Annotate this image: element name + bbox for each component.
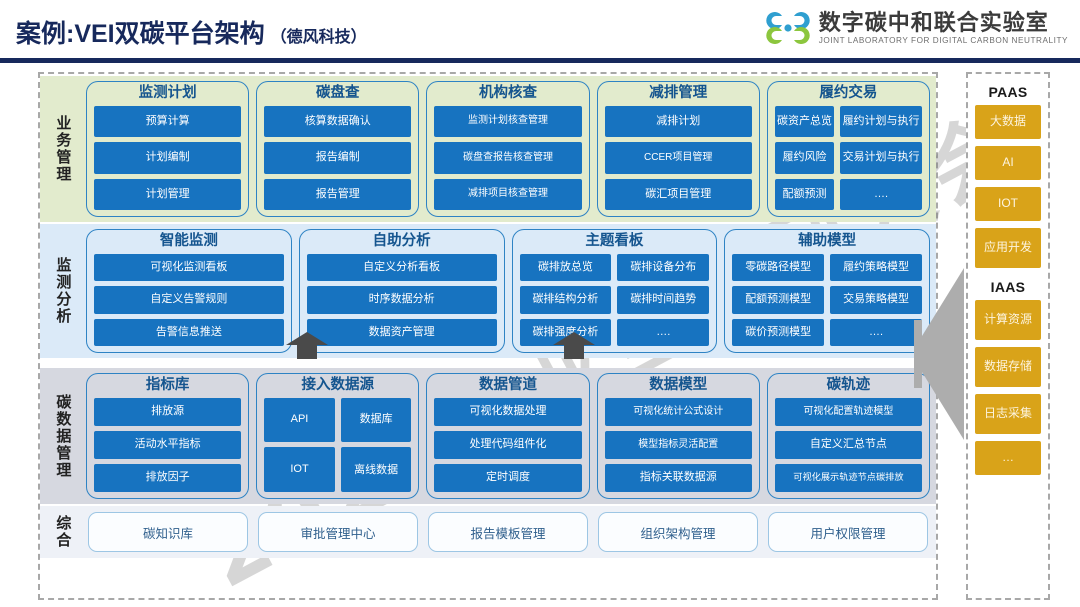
header-divider: [0, 58, 1080, 63]
group-item-chip[interactable]: 监测计划核查管理: [434, 106, 581, 137]
title-main: 案例:VEI双碳平台架构: [16, 14, 265, 50]
layer-row: 碳数据管理指标库排放源活动水平指标排放因子接入数据源API数据库IOT离线数据数…: [40, 368, 936, 504]
group-card[interactable]: 主题看板碳排放总览碳排设备分布碳排结构分析碳排时间趋势碳排强度分析….: [512, 229, 718, 353]
row-label: 综合: [40, 506, 84, 558]
group-card[interactable]: 接入数据源API数据库IOT离线数据: [256, 373, 419, 499]
group-item-chip[interactable]: 碳排时间趋势: [617, 286, 709, 313]
group-card[interactable]: 智能监测可视化监测看板自定义告警规则告警信息推送: [86, 229, 292, 353]
group-item-chip[interactable]: 核算数据确认: [264, 106, 411, 137]
iaas-items: 计算资源数据存储日志采集…: [975, 300, 1041, 475]
group-title: 指标库: [94, 376, 241, 398]
group-title: 履约交易: [775, 84, 922, 106]
four-leaf-logo-icon: [765, 8, 811, 48]
general-button[interactable]: 碳知识库: [88, 512, 248, 552]
sidebar-chip[interactable]: 日志采集: [975, 394, 1041, 434]
group-item-chip[interactable]: 自定义告警规则: [94, 286, 284, 313]
group-item-chip[interactable]: 计划管理: [94, 179, 241, 210]
group-item-chip[interactable]: 定时调度: [434, 464, 581, 492]
group-item-chip[interactable]: 履约风险: [775, 142, 834, 173]
group-item-list: 可视化配置轨迹模型自定义汇总节点可视化展示轨迹节点碳排放: [775, 398, 922, 492]
group-card[interactable]: 监测计划预算计算计划编制计划管理: [86, 81, 249, 217]
group-title: 接入数据源: [264, 376, 411, 398]
group-item-chip[interactable]: 碳价预测模型: [732, 319, 824, 346]
group-item-chip[interactable]: 减排项目核查管理: [434, 179, 581, 210]
group-item-chip[interactable]: 可视化展示轨迹节点碳排放: [775, 464, 922, 492]
group-item-chip[interactable]: 可视化统计公式设计: [605, 398, 752, 426]
big-left-arrow: [912, 208, 964, 500]
group-item-chip[interactable]: 可视化配置轨迹模型: [775, 398, 922, 426]
group-item-chip[interactable]: IOT: [264, 447, 335, 492]
group-card[interactable]: 辅助模型零碳路径模型履约策略模型配额预测模型交易策略模型碳价预测模型….: [724, 229, 930, 353]
row-label: 业务管理: [40, 76, 84, 222]
general-buttons: 碳知识库审批管理中心报告模板管理组织架构管理用户权限管理: [84, 506, 936, 558]
group-item-chip[interactable]: 可视化监测看板: [94, 254, 284, 281]
group-title: 减排管理: [605, 84, 752, 106]
group-item-list: 自定义分析看板时序数据分析数据资产管理: [307, 254, 497, 346]
paas-heading: PAAS: [975, 80, 1041, 105]
row-groups: 监测计划预算计算计划编制计划管理碳盘查核算数据确认报告编制报告管理机构核查监测计…: [84, 76, 936, 222]
row-label: 碳数据管理: [40, 368, 84, 504]
general-button[interactable]: 报告模板管理: [428, 512, 588, 552]
group-card[interactable]: 履约交易碳资产总览履约计划与执行履约风险交易计划与执行配额预测….: [767, 81, 930, 217]
group-item-chip[interactable]: 排放源: [94, 398, 241, 426]
group-card[interactable]: 数据模型可视化统计公式设计模型指标灵活配置指标关联数据源: [597, 373, 760, 499]
group-title: 机构核查: [434, 84, 581, 106]
group-item-chip[interactable]: 减排计划: [605, 106, 752, 137]
group-item-chip[interactable]: 零碳路径模型: [732, 254, 824, 281]
general-button[interactable]: 组织架构管理: [598, 512, 758, 552]
title-sub: （德风科技）: [271, 23, 367, 47]
group-item-chip[interactable]: 数据库: [341, 398, 412, 443]
page-title: 案例:VEI双碳平台架构 （德风科技）: [16, 14, 367, 50]
group-card[interactable]: 减排管理减排计划CCER项目管理碳汇项目管理: [597, 81, 760, 217]
group-item-chip[interactable]: CCER项目管理: [605, 142, 752, 173]
group-title: 数据管道: [434, 376, 581, 398]
group-card[interactable]: 碳轨迹可视化配置轨迹模型自定义汇总节点可视化展示轨迹节点碳排放: [767, 373, 930, 499]
logo-title-en: JOINT LABORATORY FOR DIGITAL CARBON NEUT…: [819, 36, 1068, 45]
paas-items: 大数据AIIOT应用开发: [975, 105, 1041, 268]
sidebar-chip[interactable]: 数据存储: [975, 347, 1041, 387]
group-item-chip[interactable]: 交易计划与执行: [840, 142, 922, 173]
up-arrow-right: [552, 330, 596, 360]
group-item-list: 可视化数据处理处理代码组件化定时调度: [434, 398, 581, 492]
group-item-chip[interactable]: ….: [840, 179, 922, 210]
up-arrow-left: [285, 330, 329, 360]
layer-row: 监测分析智能监测可视化监测看板自定义告警规则告警信息推送自助分析自定义分析看板时…: [40, 224, 936, 358]
sidebar-chip[interactable]: 计算资源: [975, 300, 1041, 340]
group-item-chip[interactable]: ….: [830, 319, 922, 346]
group-item-list: 减排计划CCER项目管理碳汇项目管理: [605, 106, 752, 210]
sidebar-chip[interactable]: AI: [975, 146, 1041, 180]
group-item-chip[interactable]: 报告编制: [264, 142, 411, 173]
group-title: 碳轨迹: [775, 376, 922, 398]
layer-row: 业务管理监测计划预算计算计划编制计划管理碳盘查核算数据确认报告编制报告管理机构核…: [40, 76, 936, 222]
group-item-chip[interactable]: API: [264, 398, 335, 443]
sidebar-chip[interactable]: 应用开发: [975, 228, 1041, 268]
group-item-chip[interactable]: 履约策略模型: [830, 254, 922, 281]
group-card[interactable]: 机构核查监测计划核查管理碳盘查报告核查管理减排项目核查管理: [426, 81, 589, 217]
group-item-chip[interactable]: 碳排结构分析: [520, 286, 612, 313]
slide-canvas: 案例:VEI双碳平台架构 （德风科技） 数字碳中和联合实验室 JOINT LAB…: [0, 0, 1080, 607]
general-button[interactable]: 用户权限管理: [768, 512, 928, 552]
sidebar-chip[interactable]: 大数据: [975, 105, 1041, 139]
group-item-chip[interactable]: 计划编制: [94, 142, 241, 173]
sidebar-inner: PAAS 大数据AIIOT应用开发 IAAS 计算资源数据存储日志采集…: [968, 74, 1048, 598]
group-item-list: 碳排放总览碳排设备分布碳排结构分析碳排时间趋势碳排强度分析….: [520, 254, 710, 346]
architecture-frame: 2023工业互联网大会 业务管理监测计划预算计算计划编制计划管理碳盘查核算数据确…: [38, 72, 938, 600]
group-title: 主题看板: [520, 232, 710, 254]
group-item-chip[interactable]: 自定义汇总节点: [775, 431, 922, 459]
group-title: 监测计划: [94, 84, 241, 106]
group-title: 自助分析: [307, 232, 497, 254]
group-item-chip[interactable]: 自定义分析看板: [307, 254, 497, 281]
group-item-list: API数据库IOT离线数据: [264, 398, 411, 492]
lab-logo: 数字碳中和联合实验室 JOINT LABORATORY FOR DIGITAL …: [765, 8, 1068, 48]
sidebar-chip[interactable]: …: [975, 441, 1041, 475]
group-item-chip[interactable]: ….: [617, 319, 709, 346]
group-item-chip[interactable]: 数据资产管理: [307, 319, 497, 346]
group-item-list: 核算数据确认报告编制报告管理: [264, 106, 411, 210]
group-item-chip[interactable]: 活动水平指标: [94, 431, 241, 459]
group-item-chip[interactable]: 预算计算: [94, 106, 241, 137]
group-card[interactable]: 指标库排放源活动水平指标排放因子: [86, 373, 249, 499]
group-item-chip[interactable]: 碳盘查报告核查管理: [434, 142, 581, 173]
group-card[interactable]: 碳盘查核算数据确认报告编制报告管理: [256, 81, 419, 217]
group-item-list: 可视化统计公式设计模型指标灵活配置指标关联数据源: [605, 398, 752, 492]
group-item-chip[interactable]: 可视化数据处理: [434, 398, 581, 426]
group-card[interactable]: 自助分析自定义分析看板时序数据分析数据资产管理: [299, 229, 505, 353]
group-item-chip[interactable]: 碳排放总览: [520, 254, 612, 281]
group-item-chip[interactable]: 时序数据分析: [307, 286, 497, 313]
group-item-chip[interactable]: 配额预测模型: [732, 286, 824, 313]
iaas-heading: IAAS: [975, 275, 1041, 300]
logo-title-cn: 数字碳中和联合实验室: [819, 11, 1068, 34]
layer-row-general: 综合碳知识库审批管理中心报告模板管理组织架构管理用户权限管理: [40, 506, 936, 558]
group-item-chip[interactable]: 排放因子: [94, 464, 241, 492]
group-item-chip[interactable]: 处理代码组件化: [434, 431, 581, 459]
group-item-chip[interactable]: 告警信息推送: [94, 319, 284, 346]
group-item-chip[interactable]: 模型指标灵活配置: [605, 431, 752, 459]
group-title: 智能监测: [94, 232, 284, 254]
group-item-chip[interactable]: 指标关联数据源: [605, 464, 752, 492]
group-item-chip[interactable]: 履约计划与执行: [840, 106, 922, 137]
row-groups: 智能监测可视化监测看板自定义告警规则告警信息推送自助分析自定义分析看板时序数据分…: [84, 224, 936, 358]
group-item-list: 监测计划核查管理碳盘查报告核查管理减排项目核查管理: [434, 106, 581, 210]
row-label: 监测分析: [40, 224, 84, 358]
group-item-chip[interactable]: 碳汇项目管理: [605, 179, 752, 210]
group-item-list: 可视化监测看板自定义告警规则告警信息推送: [94, 254, 284, 346]
group-item-chip[interactable]: 交易策略模型: [830, 286, 922, 313]
group-card[interactable]: 数据管道可视化数据处理处理代码组件化定时调度: [426, 373, 589, 499]
group-title: 数据模型: [605, 376, 752, 398]
general-button[interactable]: 审批管理中心: [258, 512, 418, 552]
group-title: 碳盘查: [264, 84, 411, 106]
sidebar-chip[interactable]: IOT: [975, 187, 1041, 221]
group-item-chip[interactable]: 报告管理: [264, 179, 411, 210]
group-item-chip[interactable]: 碳资产总览: [775, 106, 834, 137]
group-item-chip[interactable]: 离线数据: [341, 447, 412, 492]
row-groups: 指标库排放源活动水平指标排放因子接入数据源API数据库IOT离线数据数据管道可视…: [84, 368, 936, 504]
slide-header: 案例:VEI双碳平台架构 （德风科技） 数字碳中和联合实验室 JOINT LAB…: [0, 0, 1080, 60]
group-item-chip[interactable]: 配额预测: [775, 179, 834, 210]
group-item-list: 预算计算计划编制计划管理: [94, 106, 241, 210]
group-title: 辅助模型: [732, 232, 922, 254]
platform-stack-sidebar: PAAS 大数据AIIOT应用开发 IAAS 计算资源数据存储日志采集…: [966, 72, 1050, 600]
group-item-chip[interactable]: 碳排设备分布: [617, 254, 709, 281]
group-item-list: 排放源活动水平指标排放因子: [94, 398, 241, 492]
group-item-list: 零碳路径模型履约策略模型配额预测模型交易策略模型碳价预测模型….: [732, 254, 922, 346]
group-item-list: 碳资产总览履约计划与执行履约风险交易计划与执行配额预测….: [775, 106, 922, 210]
